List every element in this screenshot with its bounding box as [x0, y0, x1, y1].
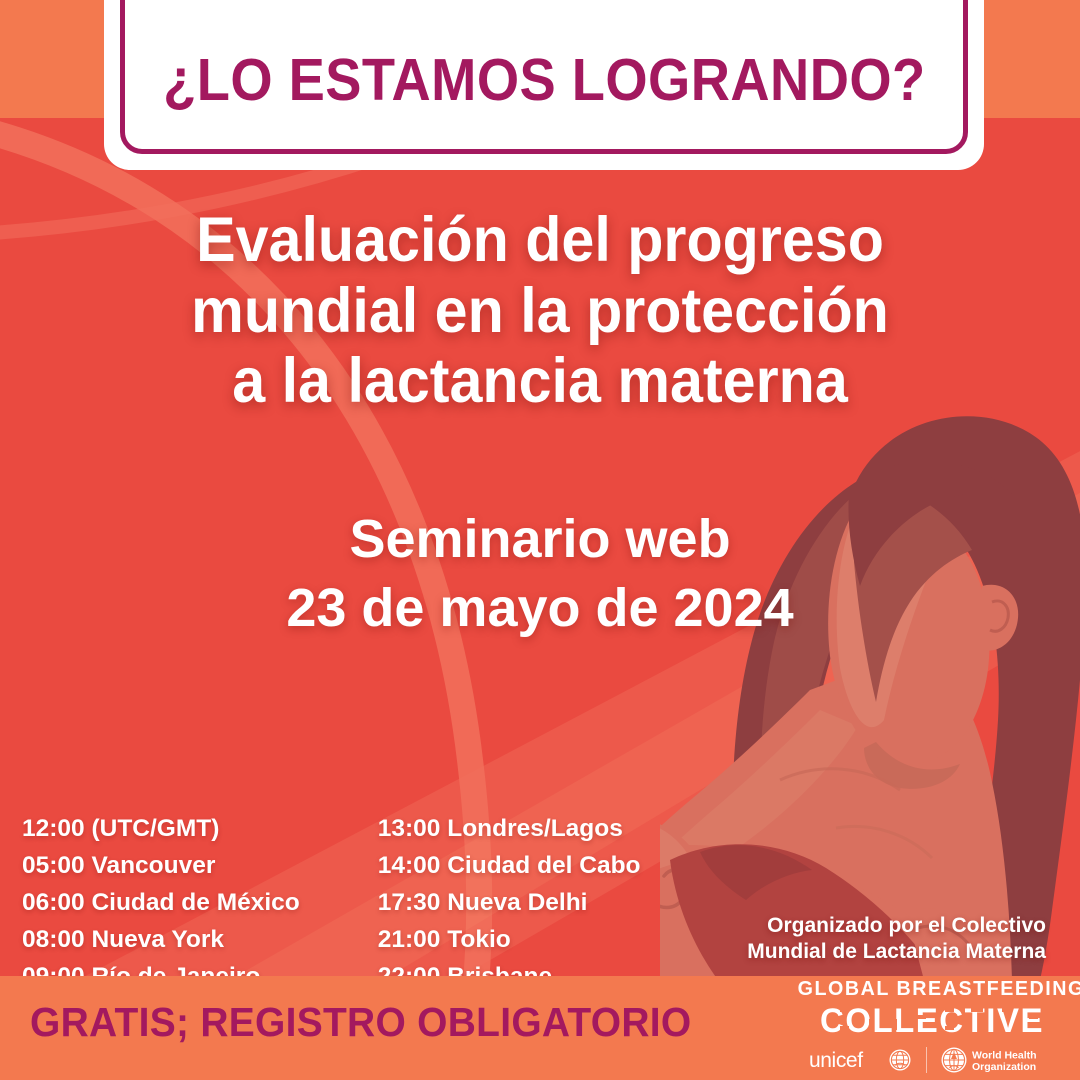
registration-cta: GRATIS; REGISTRO OBLIGATORIO — [30, 999, 691, 1046]
illustration-svg — [660, 390, 1080, 980]
who-line-1: World Health — [972, 1050, 1037, 1062]
promo-poster: ¿LO ESTAMOS LOGRANDO? Evaluación del pro… — [0, 0, 1080, 1080]
timezone-item: 13:00 Londres/Lagos — [378, 810, 641, 847]
partner-logos: unicef — [792, 1046, 1072, 1074]
organizer-line-1: Organizado por el Colectivo — [747, 913, 1046, 939]
timezone-column-right: 13:00 Londres/Lagos 14:00 Ciudad del Cab… — [378, 810, 641, 996]
main-headline: Evaluación del progreso mundial en la pr… — [32, 205, 1047, 417]
timezone-item: 17:30 Nueva Delhi — [378, 884, 641, 921]
webinar-info: Seminario web 23 de mayo de 2024 — [0, 505, 1080, 643]
who-logo: World Health Organization — [940, 1046, 1056, 1074]
organizer-line-2: Mundial de Lactancia Materna — [747, 939, 1046, 965]
timezone-item: 08:00 Nueva York — [22, 921, 300, 958]
webinar-label: Seminario web — [0, 505, 1080, 574]
svg-text:COLLECTIVE: COLLECTIVE — [820, 1003, 1044, 1036]
timezone-item: 12:00 (UTC/GMT) — [22, 810, 300, 847]
who-line-2: Organization — [972, 1061, 1036, 1073]
who-logo-svg: World Health Organization — [940, 1046, 1056, 1074]
timezone-item: 14:00 Ciudad del Cabo — [378, 847, 641, 884]
unicef-logo-svg: unicef — [809, 1047, 913, 1073]
timezone-column-left: 12:00 (UTC/GMT) 05:00 Vancouver 06:00 Ci… — [22, 810, 300, 996]
gbc-logo-toptext: GLOBAL BREASTFEEDING — [798, 977, 1067, 1001]
logo-divider — [926, 1047, 927, 1073]
collective-wordmark-svg: COLLECTIVE — [799, 1002, 1065, 1036]
breastfeeding-illustration — [660, 390, 1080, 980]
headline-line-1: Evaluación del progreso — [32, 205, 1047, 276]
headline-line-3: a la lactancia materna — [32, 346, 1047, 417]
page-title: ¿LO ESTAMOS LOGRANDO? — [163, 46, 926, 114]
gbc-logo-collective: COLLECTIVE — [792, 1002, 1072, 1036]
timezone-list: 12:00 (UTC/GMT) 05:00 Vancouver 06:00 Ci… — [22, 810, 641, 996]
unicef-globe-icon — [889, 1050, 910, 1071]
webinar-date: 23 de mayo de 2024 — [0, 574, 1080, 643]
headline-line-2: mundial en la protección — [32, 276, 1047, 347]
who-emblem-icon — [941, 1048, 966, 1073]
timezone-item: 05:00 Vancouver — [22, 847, 300, 884]
logo-block: GLOBAL BREASTFEEDING COLLECTIVE — [792, 977, 1072, 1074]
header-banner: ¿LO ESTAMOS LOGRANDO? — [104, 0, 984, 170]
timezone-item: 21:00 Tokio — [378, 921, 641, 958]
unicef-logo: unicef — [809, 1047, 913, 1073]
svg-text:unicef: unicef — [809, 1049, 863, 1072]
organizer-credit: Organizado por el Colectivo Mundial de L… — [747, 913, 1046, 964]
timezone-item: 06:00 Ciudad de México — [22, 884, 300, 921]
